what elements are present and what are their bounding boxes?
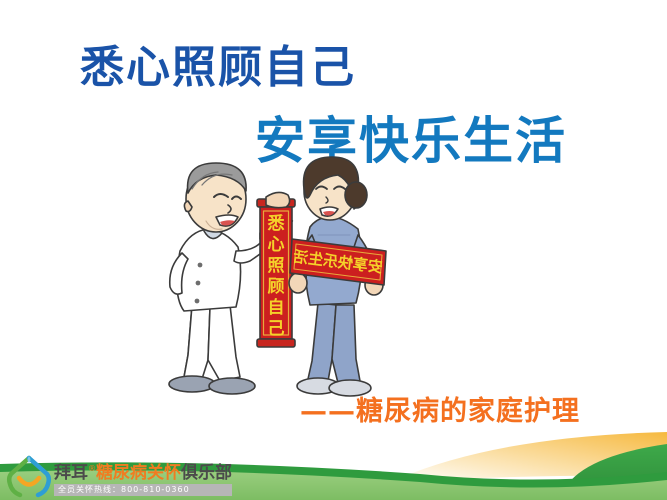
- cartoon-illustration: 悉 心 照 顾 自 己: [140, 155, 430, 400]
- logo-club-end-text: 俱乐部: [181, 465, 232, 482]
- vertical-banner-char-3: 照: [268, 256, 285, 276]
- logo-brand-text: 拜耳: [54, 465, 88, 482]
- headline-line-1: 悉心照顾自己: [80, 46, 356, 90]
- logo-club-middle-text: 糖尿病关怀: [96, 465, 181, 482]
- bayer-club-logo: 拜耳 ® 糖尿病关怀 俱乐部 全员关怀热线：800-810-0360: [6, 450, 232, 498]
- subtitle-text: ——糖尿病的家庭护理: [300, 398, 580, 425]
- vertical-banner-char-4: 顾: [268, 277, 285, 297]
- vertical-banner-char-1: 悉: [267, 214, 286, 234]
- registered-mark-icon: ®: [88, 465, 96, 473]
- house-smile-icon: [6, 454, 52, 498]
- vertical-banner-char-6: 己: [268, 319, 285, 339]
- hotline-bar: 全员关怀热线：800-810-0360: [54, 484, 232, 496]
- logo-wordmark: 拜耳 ® 糖尿病关怀 俱乐部: [54, 465, 232, 482]
- vertical-banner-char-5: 自: [268, 297, 285, 318]
- vertical-banner-char-2: 心: [268, 235, 285, 255]
- slide-canvas: 悉心照顾自己 安享快乐生活: [0, 0, 667, 500]
